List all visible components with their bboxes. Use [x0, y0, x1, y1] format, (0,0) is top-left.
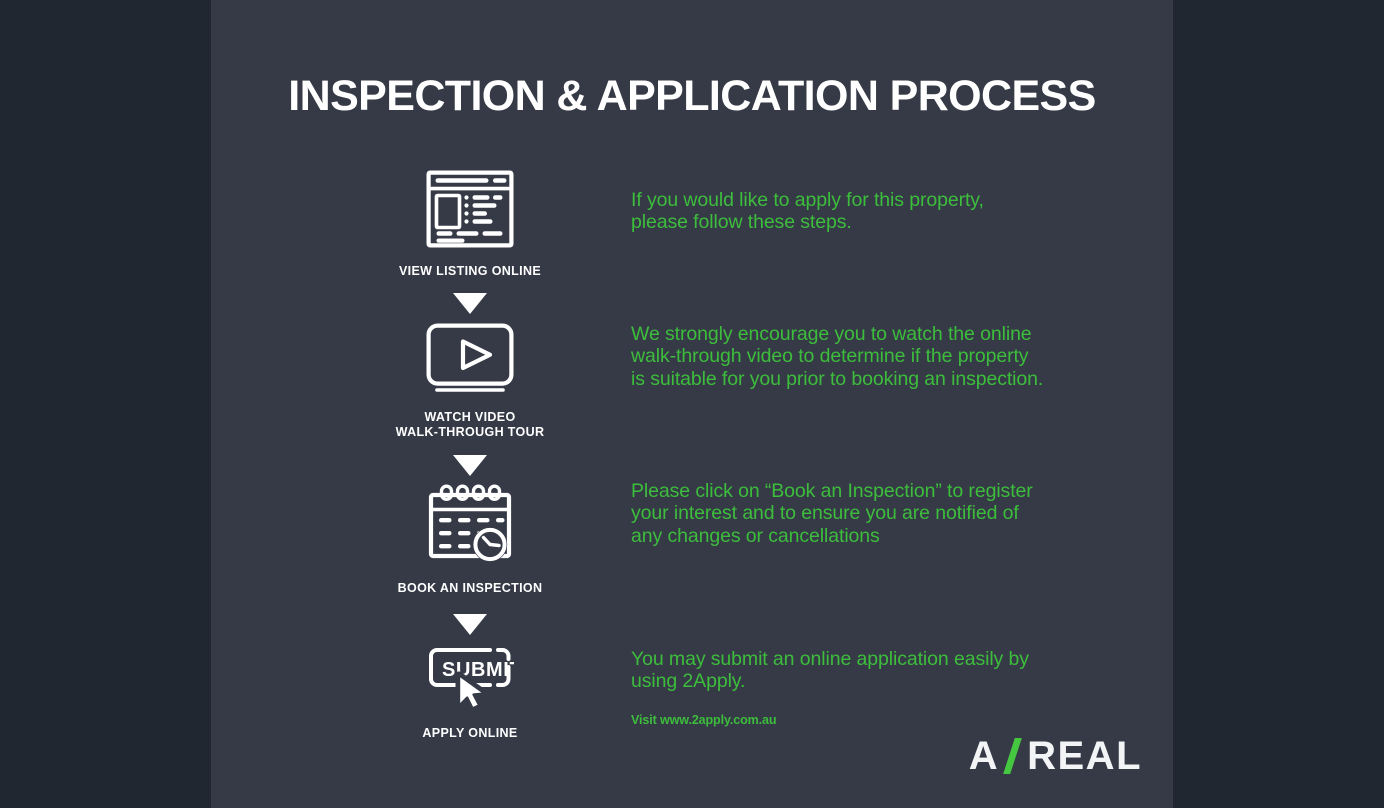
step-1-description: If you would like to apply for this prop… — [631, 189, 984, 234]
step-2-description: We strongly encourage you to watch the o… — [631, 323, 1043, 390]
submit-button-cursor-icon: SUBMIT — [426, 645, 514, 709]
infographic-canvas: INSPECTION & APPLICATION PROCESS — [0, 0, 1384, 808]
submit-icon-text: SUBMIT — [442, 659, 514, 681]
step-1-label: VIEW LISTING ONLINE — [211, 264, 729, 279]
video-monitor-play-icon — [426, 323, 514, 395]
visit-url-line[interactable]: Visit www.2apply.com.au — [631, 713, 776, 727]
step-4-label: APPLY ONLINE — [211, 726, 729, 741]
brand-logo: A REAL — [969, 736, 1142, 776]
down-triangle-arrow-1 — [211, 293, 729, 314]
step-3-label: BOOK AN INSPECTION — [211, 581, 729, 596]
down-triangle-arrow-2 — [211, 455, 729, 476]
down-triangle-arrow-3 — [211, 614, 729, 635]
calendar-clock-icon — [427, 484, 513, 564]
page-title: INSPECTION & APPLICATION PROCESS — [211, 72, 1173, 121]
logo-letter-a: A — [969, 736, 999, 776]
logo-word-real: REAL — [1027, 736, 1142, 776]
step-2-label: WATCH VIDEO WALK-THROUGH TOUR — [211, 410, 729, 440]
content-panel: INSPECTION & APPLICATION PROCESS — [211, 0, 1173, 808]
logo-slash-icon — [1000, 736, 1026, 776]
step-4-description: You may submit an online application eas… — [631, 648, 1029, 693]
step-3-description: Please click on “Book an Inspection” to … — [631, 480, 1033, 547]
browser-listing-icon — [426, 170, 514, 248]
